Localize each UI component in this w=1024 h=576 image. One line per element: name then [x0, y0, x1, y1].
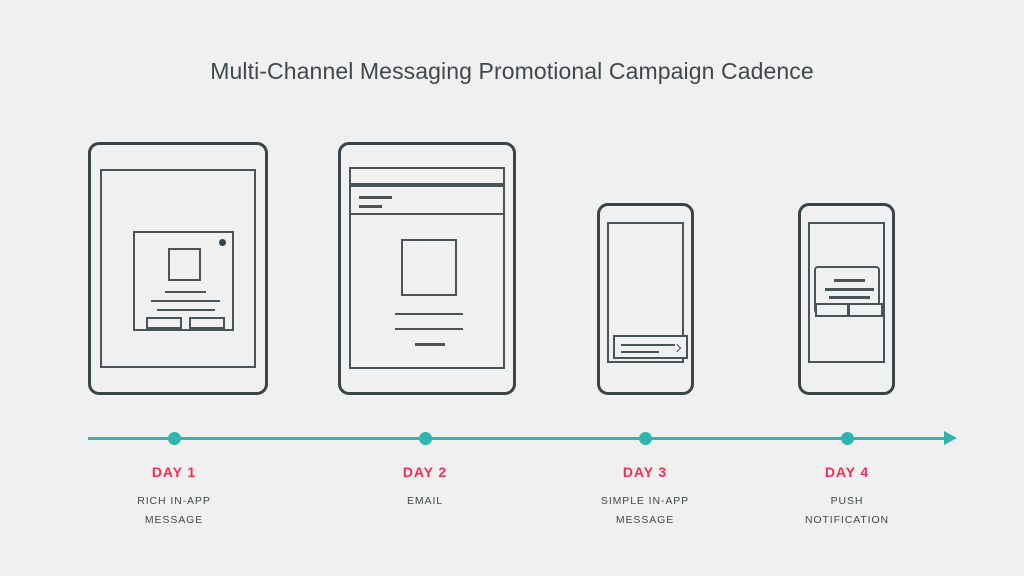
modal-image-placeholder: [168, 248, 201, 281]
timeline-channel-label-line1: EMAIL: [335, 492, 515, 511]
modal-text-line-3: [157, 309, 215, 311]
modal-text-line-1: [165, 291, 206, 293]
timeline-day-label: DAY 2: [335, 464, 515, 480]
push-button-primary: [815, 303, 849, 317]
chevron-right-icon: [673, 344, 681, 352]
timeline-day-label: DAY 1: [84, 464, 264, 480]
simple-in-app-banner: [613, 335, 688, 359]
timeline-channel-label: EMAIL: [335, 492, 515, 511]
timeline-channel-label-line1: SIMPLE IN-APP: [555, 492, 735, 511]
timeline-dot: [639, 432, 652, 445]
device-tablet-email: [338, 142, 516, 395]
push-button-secondary: [848, 303, 883, 317]
email-subject-block: [349, 185, 505, 215]
modal-button-secondary: [189, 317, 225, 329]
timeline-channel-label-line2: NOTIFICATION: [757, 511, 937, 530]
close-icon: [219, 239, 226, 246]
timeline-channel-label: SIMPLE IN-APP MESSAGE: [555, 492, 735, 530]
banner-text-line-1: [621, 344, 675, 346]
timeline-dot: [841, 432, 854, 445]
push-text-line-2: [825, 288, 874, 291]
rich-in-app-modal: [133, 231, 234, 331]
timeline-day-label: DAY 4: [757, 464, 937, 480]
timeline-dot: [168, 432, 181, 445]
device-tablet-rich-in-app: [88, 142, 268, 395]
timeline-channel-label-line2: MESSAGE: [555, 511, 735, 530]
email-subject-line-1: [359, 196, 392, 199]
modal-text-line-2: [151, 300, 220, 302]
timeline-channel-label-line1: PUSH: [757, 492, 937, 511]
timeline-dot: [419, 432, 432, 445]
device-phone-push-notification: [798, 203, 895, 395]
device-phone-simple-in-app: [597, 203, 694, 395]
email-hero-image-placeholder: [401, 239, 457, 296]
banner-text-line-2: [621, 351, 659, 353]
push-notification-card: [814, 266, 880, 314]
timeline-arrow-icon: [944, 431, 957, 445]
timeline-channel-label-line1: RICH IN-APP: [84, 492, 264, 511]
email-toolbar-bar: [349, 167, 505, 185]
timeline-day-label: DAY 3: [555, 464, 735, 480]
modal-button-primary: [146, 317, 182, 329]
device-illustrations: [0, 0, 1024, 420]
timeline-axis: [88, 437, 948, 440]
timeline-channel-label: PUSH NOTIFICATION: [757, 492, 937, 530]
email-subject-line-2: [359, 205, 382, 208]
timeline-channel-label-line2: MESSAGE: [84, 511, 264, 530]
infographic-canvas: Multi-Channel Messaging Promotional Camp…: [0, 0, 1024, 576]
email-body-line-1: [395, 313, 463, 315]
push-text-line-1: [834, 279, 865, 282]
email-body-line-2: [395, 328, 463, 330]
timeline-channel-label: RICH IN-APP MESSAGE: [84, 492, 264, 530]
email-body-line-3: [415, 343, 445, 346]
campaign-timeline: DAY 1 RICH IN-APP MESSAGE DAY 2 EMAIL DA…: [0, 408, 1024, 576]
push-text-line-3: [829, 296, 870, 299]
